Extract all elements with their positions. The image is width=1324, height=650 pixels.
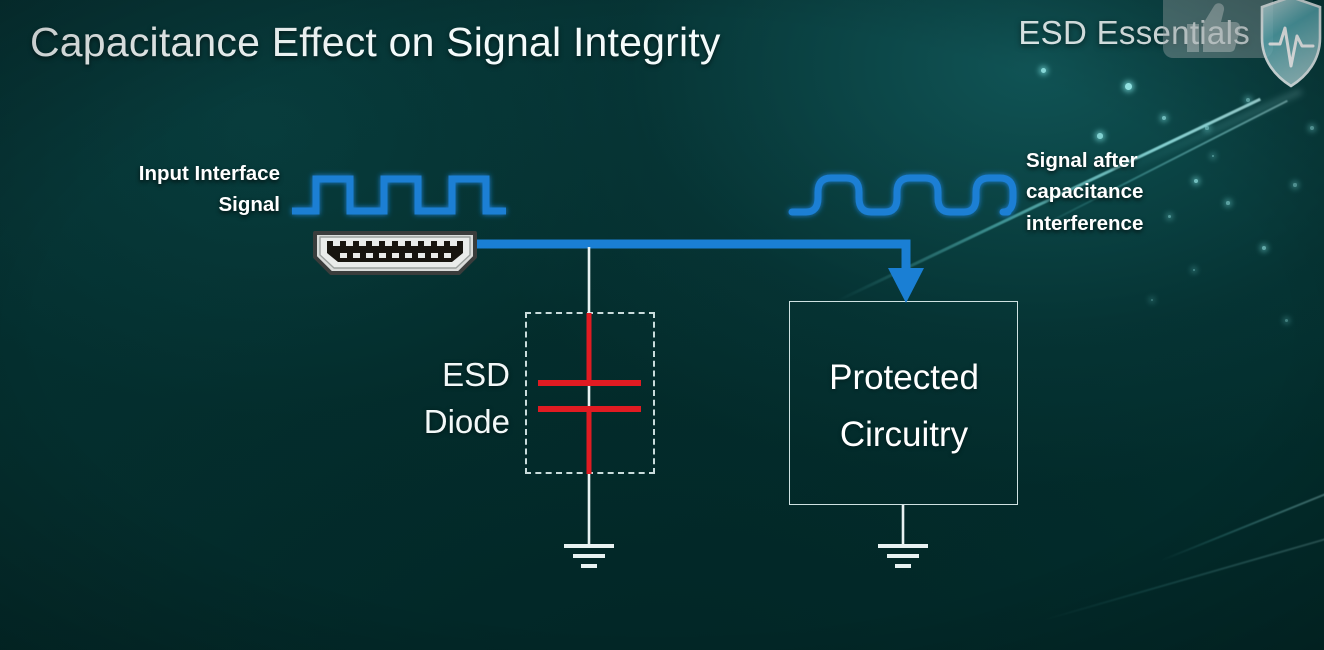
particle-dot bbox=[1205, 126, 1208, 129]
signal-flow-arrow-icon bbox=[888, 268, 924, 303]
particle-dot bbox=[1246, 98, 1250, 102]
particle-dot bbox=[1125, 83, 1132, 90]
ground-symbol-icon bbox=[878, 546, 928, 566]
brand-label: ESD Essentials bbox=[1018, 14, 1250, 52]
signal-trace bbox=[476, 244, 924, 303]
ground-symbol-icon bbox=[564, 546, 614, 566]
particle-dot bbox=[1285, 319, 1288, 322]
page-title: Capacitance Effect on Signal Integrity bbox=[30, 19, 721, 66]
circuit-diagram-layer bbox=[0, 0, 1324, 650]
esd-diode-label: ESDDiode bbox=[330, 352, 510, 446]
esd-diode-boundary bbox=[525, 312, 655, 474]
light-streak bbox=[1160, 493, 1324, 562]
input-signal-label: Input InterfaceSignal bbox=[22, 158, 280, 221]
particle-dot bbox=[1097, 133, 1103, 139]
input-waveform bbox=[292, 179, 506, 211]
particle-dot bbox=[1310, 126, 1314, 130]
vignette-overlay bbox=[0, 0, 1324, 650]
slide-canvas: Capacitance Effect on Signal Integrity E… bbox=[0, 0, 1324, 650]
particle-dot bbox=[1293, 183, 1296, 186]
particle-dot bbox=[1041, 68, 1046, 73]
particle-dot bbox=[1193, 269, 1196, 272]
particle-dot bbox=[1151, 299, 1154, 302]
light-streak bbox=[1040, 537, 1324, 621]
hdmi-connector-icon bbox=[309, 229, 481, 277]
particle-dot bbox=[1262, 246, 1266, 250]
shield-pulse-logo-icon bbox=[1258, 0, 1324, 90]
output-waveform bbox=[792, 178, 1013, 212]
protected-circuitry-box bbox=[789, 301, 1018, 505]
output-signal-label: Signal aftercapacitanceinterference bbox=[1026, 145, 1266, 239]
particle-dot bbox=[1162, 116, 1166, 120]
